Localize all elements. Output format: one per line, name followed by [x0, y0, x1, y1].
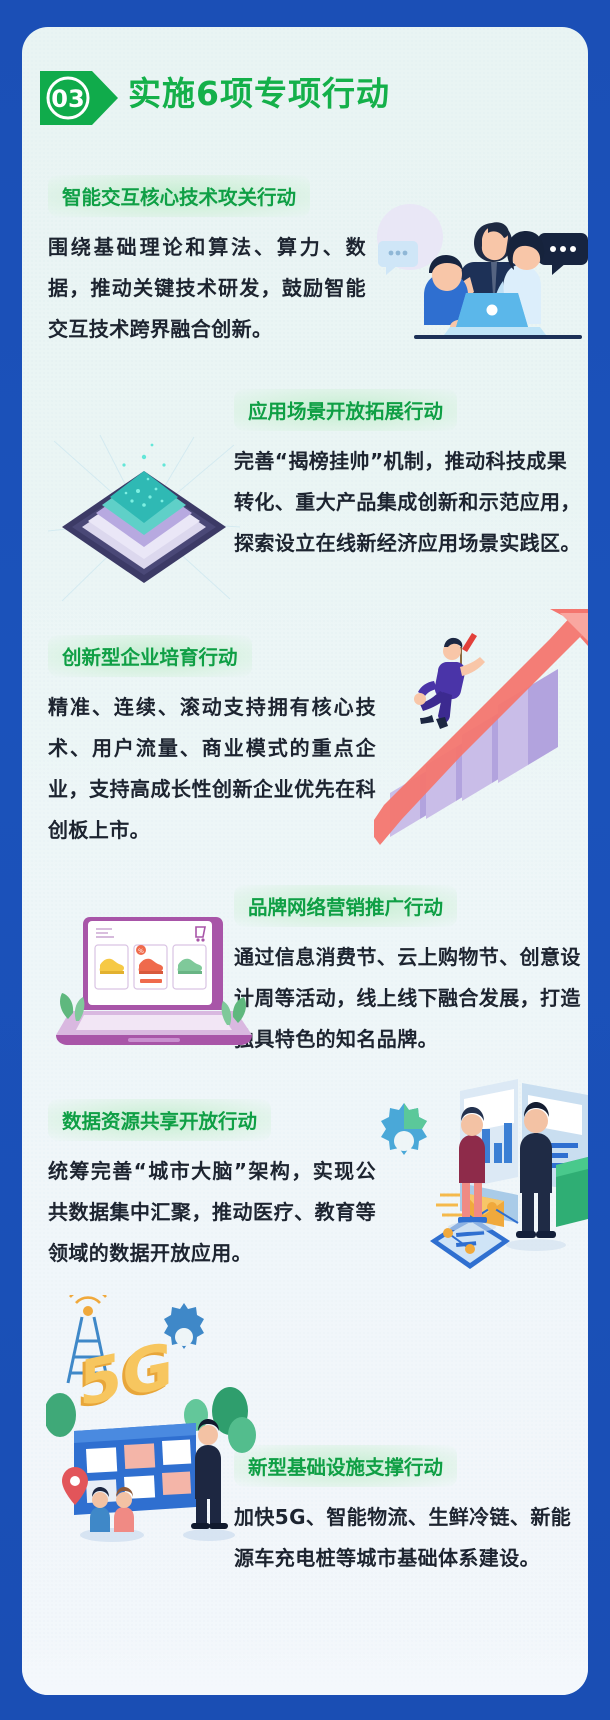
card-bottom-fade — [22, 1635, 588, 1695]
section-3-body: 精准、连续、滚动支持拥有核心技术、用户流量、商业模式的重点企业，支持高成长性创新… — [48, 687, 376, 851]
section-1-title: 智能交互核心技术攻关行动 — [48, 175, 310, 217]
section-header: 03 实施6项专项行动 — [22, 69, 588, 131]
section-2-title: 应用场景开放拓展行动 — [234, 389, 457, 431]
section-6-body: 加快5G、智能物流、生鲜冷链、新能源车充电桩等城市基础体系建设。 — [234, 1497, 582, 1579]
section-2-body: 完善“揭榜挂帅”机制，推动科技成果转化、重大产品集成创新和示范应用，探索设立在线… — [234, 441, 582, 564]
team-discussion-laptop-icon — [370, 199, 588, 349]
svg-text:%: % — [138, 948, 144, 955]
section-1-body: 围绕基础理论和算法、算力、数据，推动关键技术研发，鼓励智能交互技术跨界融合创新。 — [48, 227, 366, 350]
step-number-badge: 03 — [40, 69, 118, 127]
section-application-scenarios: 应用场景开放拓展行动 完善“揭榜挂帅”机制，推动科技成果转化、重大产品集成创新和… — [234, 389, 584, 564]
section-4-title: 品牌网络营销推广行动 — [234, 885, 457, 927]
section-intelligent-interaction: 智能交互核心技术攻关行动 围绕基础理论和算法、算力、数据，推动关键技术研发，鼓励… — [48, 175, 368, 350]
content-card: 03 实施6项专项行动 智能交互核心技术攻关行动 围绕基础理论和算法、算力、数据… — [22, 27, 588, 1695]
section-3-title: 创新型企业培育行动 — [48, 635, 252, 677]
section-4-body: 通过信息消费节、云上购物节、创意设计周等活动，线上线下融合发展，打造独具特色的知… — [234, 937, 582, 1060]
5g-infrastructure-icon: 5G 5G — [46, 1295, 256, 1545]
section-new-infrastructure: 新型基础设施支撑行动 加快5G、智能物流、生鲜冷链、新能源车充电桩等城市基础体系… — [234, 1445, 584, 1579]
page-title: 实施6项专项行动 — [128, 67, 390, 115]
badge-number: 03 — [51, 85, 84, 113]
isometric-chip-icon — [44, 431, 242, 611]
section-6-title: 新型基础设施支撑行动 — [234, 1445, 457, 1487]
growth-chart-runner-icon — [374, 607, 588, 847]
section-data-sharing: 数据资源共享开放行动 统筹完善“城市大脑”架构，实现公共数据集中汇聚，推动医疗、… — [48, 1099, 378, 1274]
online-shopping-laptop-icon: % — [50, 899, 260, 1069]
data-dashboard-people-icon — [352, 1073, 588, 1293]
section-brand-marketing: 品牌网络营销推广行动 通过信息消费节、云上购物节、创意设计周等活动，线上线下融合… — [234, 885, 584, 1060]
section-5-title: 数据资源共享开放行动 — [48, 1099, 271, 1141]
section-5-body: 统筹完善“城市大脑”架构，实现公共数据集中汇聚，推动医疗、教育等领域的数据开放应… — [48, 1151, 376, 1274]
section-innovative-enterprises: 创新型企业培育行动 精准、连续、滚动支持拥有核心技术、用户流量、商业模式的重点企… — [48, 635, 378, 851]
infographic-page: 03 实施6项专项行动 智能交互核心技术攻关行动 围绕基础理论和算法、算力、数据… — [0, 0, 610, 1720]
hexagon-arrow-icon: 03 — [40, 69, 118, 127]
